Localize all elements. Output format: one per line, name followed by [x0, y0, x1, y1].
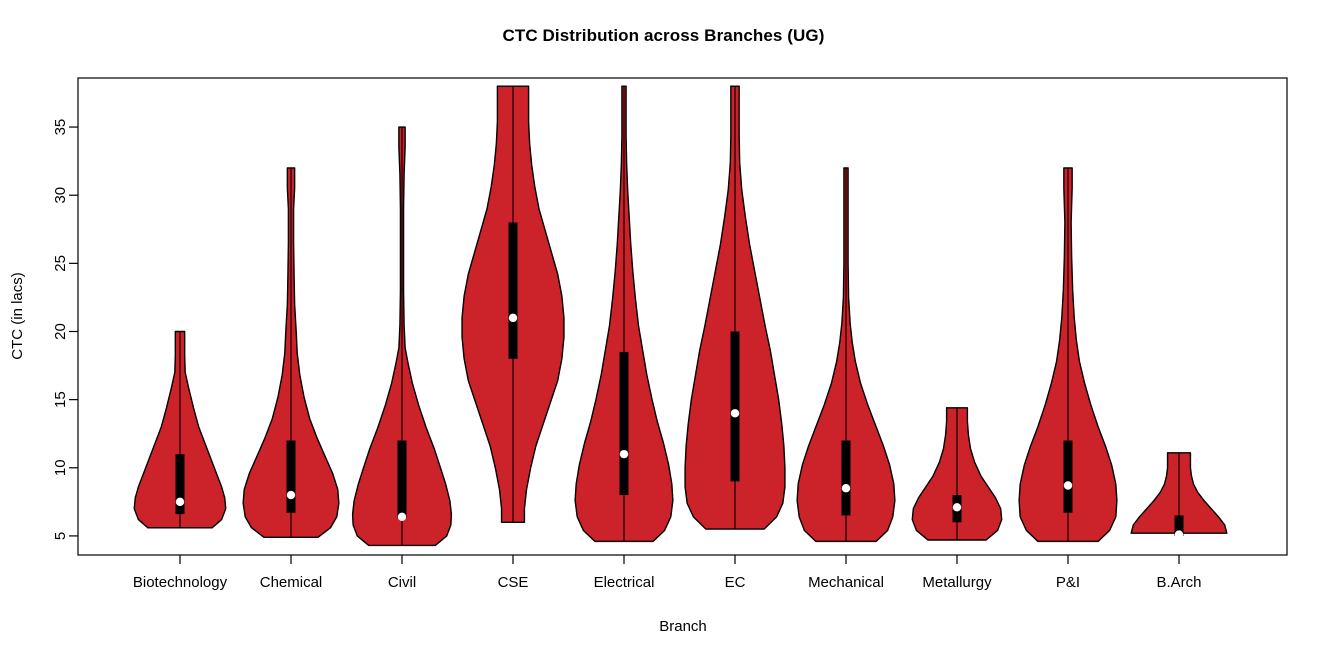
- median-dot: [620, 450, 628, 458]
- median-dot: [287, 491, 295, 499]
- x-tick-label-chemical: Chemical: [260, 574, 323, 591]
- median-dot: [398, 513, 406, 521]
- violin-mechanical[interactable]: [797, 168, 895, 541]
- median-dot: [1064, 481, 1072, 489]
- violin-electrical[interactable]: [575, 86, 673, 541]
- violin-p-i[interactable]: [1019, 168, 1117, 541]
- interquartile-box: [1064, 441, 1073, 513]
- violin-biotechnology[interactable]: [134, 331, 226, 527]
- interquartile-box: [287, 441, 296, 513]
- violin-chart-page: CTC Distribution across Branches (UG) 51…: [0, 0, 1327, 653]
- y-tick-label: 20: [52, 323, 69, 340]
- x-axis-title: Branch: [659, 618, 707, 635]
- median-dot: [953, 503, 961, 511]
- y-tick-label: 15: [52, 391, 69, 408]
- median-dot: [731, 409, 739, 417]
- labels-layer: BiotechnologyChemicalCivilCSEElectricalE…: [133, 574, 1202, 591]
- y-tick-label: 25: [52, 255, 69, 272]
- x-tick-label-b-arch: B.Arch: [1156, 574, 1201, 591]
- violin-cse[interactable]: [462, 86, 564, 522]
- x-tick-label-metallurgy: Metallurgy: [922, 574, 992, 591]
- violins-layer: [134, 86, 1227, 545]
- y-axis-title: CTC (in lacs): [9, 272, 26, 360]
- x-tick-label-biotechnology: Biotechnology: [133, 574, 228, 591]
- x-tick-label-civil: Civil: [388, 574, 416, 591]
- median-dot: [1175, 530, 1183, 538]
- violin-metallurgy[interactable]: [912, 408, 1001, 540]
- median-dot: [509, 314, 517, 322]
- violin-chemical[interactable]: [243, 168, 339, 537]
- x-tick-label-ec: EC: [725, 574, 746, 591]
- interquartile-box: [842, 441, 851, 516]
- median-dot: [842, 484, 850, 492]
- chart-plot-area: 5101520253035 BiotechnologyChemicalCivil…: [0, 0, 1327, 653]
- violin-civil[interactable]: [353, 127, 452, 545]
- x-tick-label-mechanical: Mechanical: [808, 574, 884, 591]
- interquartile-box: [509, 222, 518, 358]
- x-tick-label-electrical: Electrical: [594, 574, 655, 591]
- interquartile-box: [620, 352, 629, 495]
- x-tick-label-cse: CSE: [498, 574, 529, 591]
- interquartile-box: [398, 441, 407, 519]
- y-tick-label: 5: [52, 532, 69, 540]
- x-tick-label-p-i: P&I: [1056, 574, 1080, 591]
- interquartile-box: [731, 331, 740, 481]
- y-tick-label: 35: [52, 119, 69, 136]
- violin-b-arch[interactable]: [1131, 453, 1227, 539]
- median-dot: [176, 498, 184, 506]
- violin-ec[interactable]: [685, 86, 785, 529]
- y-tick-label: 30: [52, 187, 69, 204]
- y-tick-label: 10: [52, 459, 69, 476]
